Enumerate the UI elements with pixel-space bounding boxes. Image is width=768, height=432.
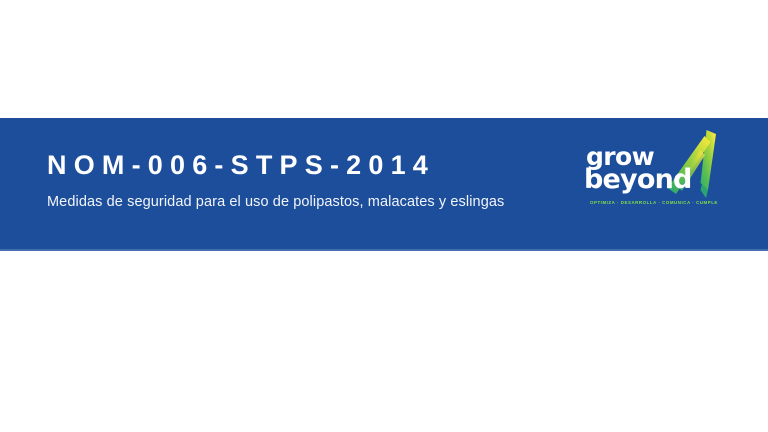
banner-text-block: NOM-006-STPS-2014 Medidas de seguridad p… xyxy=(47,152,547,213)
brand-logo: grow beyond OPTIMIZA · DESARROLLA · COMU… xyxy=(584,144,734,240)
slide-canvas: NOM-006-STPS-2014 Medidas de seguridad p… xyxy=(0,0,768,432)
logo-word-beyond: beyond xyxy=(584,166,692,193)
page-subtitle: Medidas de seguridad para el uso de poli… xyxy=(47,192,509,213)
page-title: NOM-006-STPS-2014 xyxy=(47,152,547,179)
banner-bottom-edge xyxy=(0,249,768,251)
logo-tagline: OPTIMIZA · DESARROLLA · COMUNICA · CUMPL… xyxy=(590,200,718,205)
title-banner: NOM-006-STPS-2014 Medidas de seguridad p… xyxy=(0,118,768,251)
